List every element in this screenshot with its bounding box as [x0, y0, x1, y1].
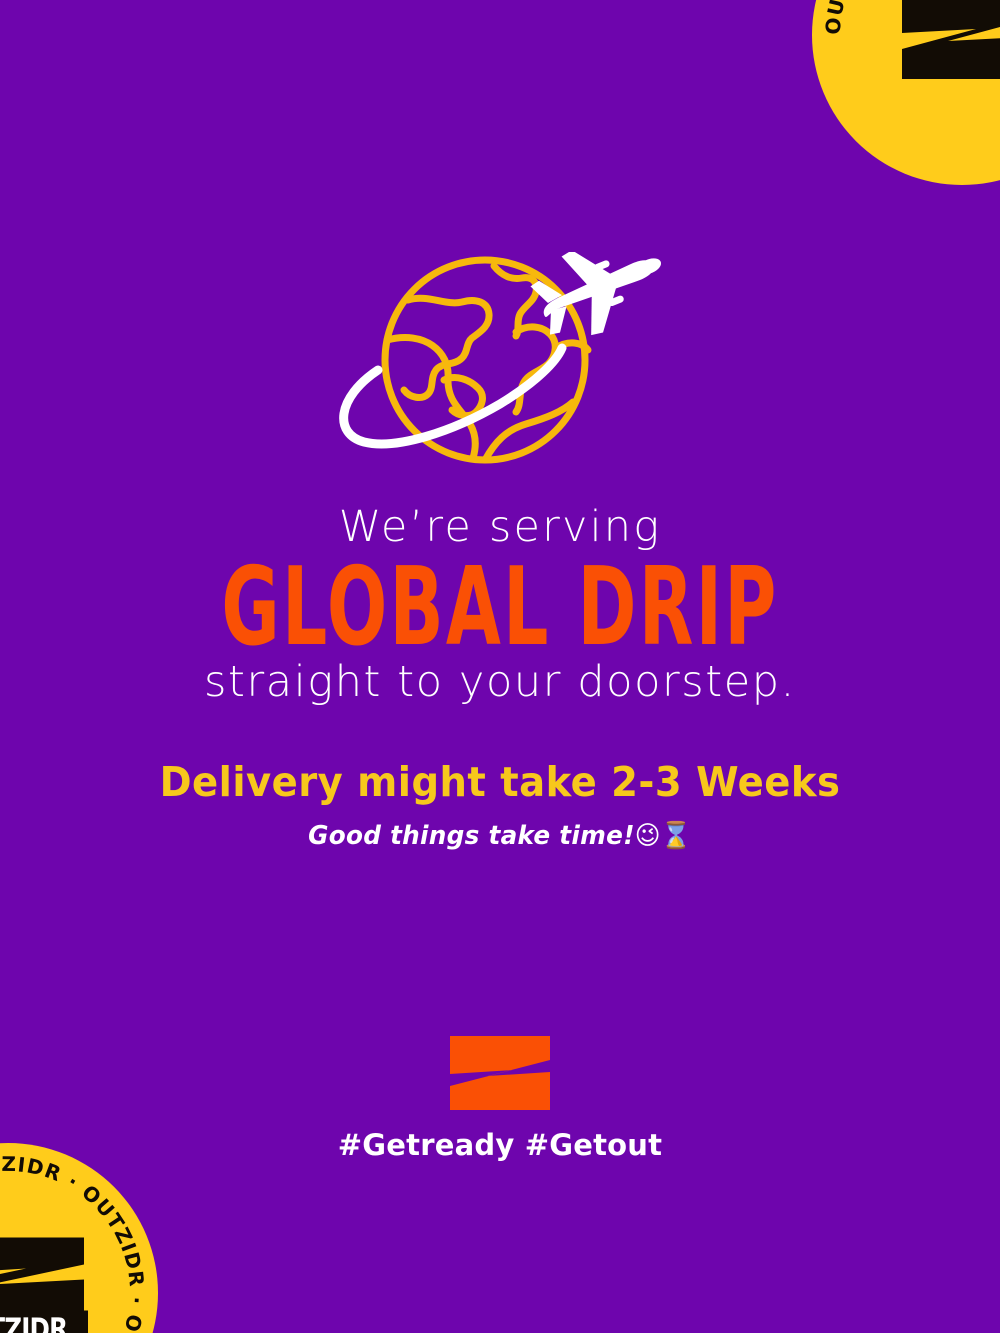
headline-line-1: We’re serving: [0, 505, 1000, 550]
poster-canvas: OUTZIDR · OUTZIDR · OUTZIDR · OUTZIDR · …: [0, 0, 1000, 1333]
delivery-subtext-label: Good things take time!: [308, 821, 635, 851]
badge-top-right: OUTZIDR · OUTZIDR · OUTZIDR · OUTZIDR ·: [812, 0, 1000, 185]
wink-face-icon: 😉: [635, 821, 661, 851]
footer-block: #Getready #Getout: [0, 1034, 1000, 1162]
badge-bottom-left-z-icon: [0, 1235, 88, 1317]
badge-bottom-left: OUTZIDR · OUTZIDR · OUTZIDR · OUTZIDR · …: [0, 1143, 158, 1333]
headline-line-2-global-drip: GLOBAL DRIP: [130, 558, 870, 657]
hourglass-icon: ⌛: [661, 821, 692, 851]
badge-top-right-core: [867, 0, 1000, 83]
delivery-timeframe-text: Delivery might take 2-3 Weeks: [30, 760, 970, 805]
headline-block: We’re serving GLOBAL DRIP straight to yo…: [0, 505, 1000, 706]
delivery-notice-block: Delivery might take 2-3 Weeks Good thing…: [0, 760, 1000, 851]
footer-hashtags: #Getready #Getout: [338, 1128, 662, 1162]
outzidr-z-logo-icon: [446, 1034, 554, 1112]
badge-top-right-z-icon: [896, 0, 1000, 83]
globe-with-airplane-icon: [330, 252, 670, 474]
badge-bottom-left-wordmark-text: OUTZIDR: [0, 1316, 67, 1333]
badge-bottom-left-core: OUTZIDR: [0, 1235, 103, 1333]
delivery-subtext: Good things take time!😉⌛: [25, 821, 975, 851]
